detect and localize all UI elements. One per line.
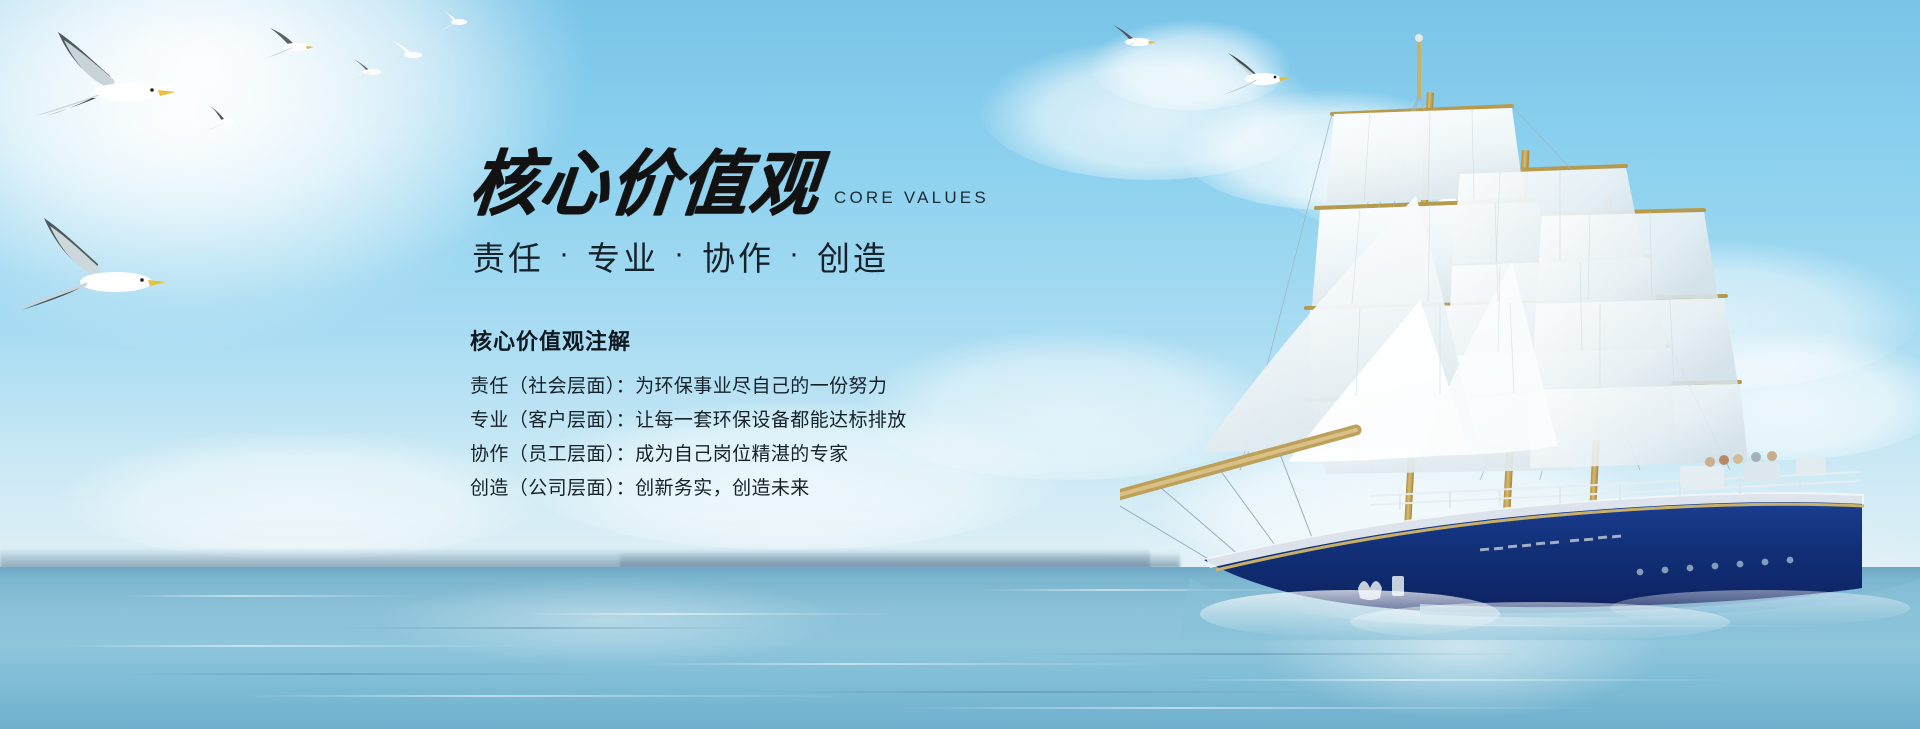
water-ripple bbox=[760, 691, 1320, 693]
note-line: 创造（公司层面）：创新务实，创造未来 bbox=[470, 472, 1110, 506]
water-ripple bbox=[640, 663, 1160, 665]
value-separator: · bbox=[559, 239, 572, 269]
sea-water bbox=[0, 567, 1920, 729]
water-ripple bbox=[1420, 625, 1840, 627]
water-ripple bbox=[1180, 679, 1740, 681]
water-ripple bbox=[240, 695, 860, 697]
values-row: 责任 · 专业 · 协作 · 创造 bbox=[470, 232, 1110, 280]
water-ripple bbox=[60, 645, 520, 647]
note-line: 协作（员工层面）：成为自己岗位精湛的专家 bbox=[470, 438, 1110, 472]
water-ripple bbox=[520, 613, 900, 615]
water-highlight bbox=[1180, 567, 1740, 729]
note-list: 责任（社会层面）：为环保事业尽自己的一份努力 专业（客户层面）：让每一套环保设备… bbox=[470, 370, 1110, 506]
value-word-1: 责任 bbox=[470, 232, 546, 280]
value-separator: · bbox=[789, 239, 802, 269]
water-ripple bbox=[120, 595, 420, 597]
note-line: 责任（社会层面）：为环保事业尽自己的一份努力 bbox=[470, 370, 1110, 404]
water-ripple bbox=[980, 589, 1300, 591]
value-word-4: 创造 bbox=[815, 232, 891, 280]
water-ripple bbox=[120, 673, 600, 675]
water-ripple bbox=[1020, 653, 1520, 655]
page-title-en: CORE VALUES bbox=[834, 188, 989, 218]
page-title-cn: 核心价值观 bbox=[466, 149, 823, 220]
value-separator: · bbox=[674, 239, 687, 269]
value-word-2: 专业 bbox=[585, 232, 661, 280]
note-line: 专业（客户层面）：让每一套环保设备都能达标排放 bbox=[470, 404, 1110, 438]
banner-content: 核心价值观 CORE VALUES 责任 · 专业 · 协作 · 创造 核心价值… bbox=[470, 140, 1110, 506]
water-ripple bbox=[900, 707, 1600, 709]
core-values-banner: 核心价值观 CORE VALUES 责任 · 专业 · 协作 · 创造 核心价值… bbox=[0, 0, 1920, 729]
value-word-3: 协作 bbox=[700, 232, 776, 280]
water-ripple bbox=[340, 627, 760, 629]
note-heading: 核心价值观注解 bbox=[470, 324, 1110, 356]
distant-land bbox=[620, 552, 1180, 568]
title-row: 核心价值观 CORE VALUES bbox=[470, 140, 1110, 218]
